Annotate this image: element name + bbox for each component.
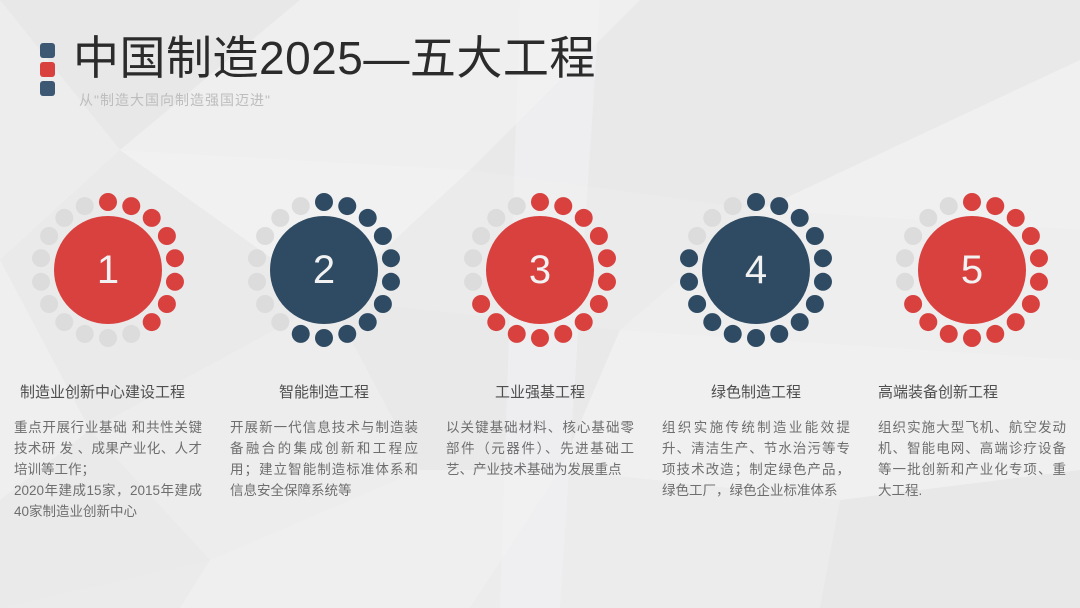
ring-dot-empty	[464, 249, 482, 267]
step-number: 5	[961, 250, 983, 290]
ring-dot-filled	[382, 249, 400, 267]
step-circle-core: 3	[486, 216, 594, 324]
step-circle-wrap: 1	[28, 190, 188, 350]
ring-dot-filled	[770, 197, 788, 215]
ring-dot-filled	[590, 295, 608, 313]
ring-dot-empty	[55, 209, 73, 227]
step-heading: 绿色制造工程	[662, 383, 850, 403]
ring-dot-filled	[143, 209, 161, 227]
ring-dot-filled	[472, 295, 490, 313]
step-circles-row: 12345	[0, 190, 1080, 370]
ring-dot-filled	[598, 249, 616, 267]
ring-dot-empty	[32, 273, 50, 291]
ring-dot-empty	[724, 197, 742, 215]
step-circle-2: 2	[216, 190, 432, 370]
ring-dot-empty	[703, 209, 721, 227]
step-circle-core: 2	[270, 216, 378, 324]
ring-dot-filled	[122, 197, 140, 215]
ring-dot-empty	[256, 295, 274, 313]
ring-dot-empty	[271, 313, 289, 331]
step-circle-core: 4	[702, 216, 810, 324]
ring-dot-filled	[166, 249, 184, 267]
step-body-paragraph: 2020年建成15家，2015年建成40家制造业创新中心	[14, 480, 202, 522]
ring-dot-empty	[256, 227, 274, 245]
bullet-square-red-middle	[40, 62, 55, 77]
ring-dot-filled	[1007, 209, 1025, 227]
ring-dot-empty	[896, 273, 914, 291]
header-bullet-marks	[40, 43, 55, 96]
step-circle-3: 3	[432, 190, 648, 370]
ring-dot-filled	[1022, 227, 1040, 245]
bullet-square-navy-top	[40, 43, 55, 58]
ring-dot-filled	[598, 273, 616, 291]
ring-dot-filled	[158, 227, 176, 245]
ring-dot-filled	[382, 273, 400, 291]
ring-dot-filled	[940, 325, 958, 343]
ring-dot-filled	[158, 295, 176, 313]
step-column-3: 工业强基工程以关键基础材料、核心基础零部件（元器件）、先进基础工艺、产业技术基础…	[432, 383, 648, 583]
ring-dot-filled	[575, 313, 593, 331]
step-body-paragraph: 组织实施大型飞机、航空发动机、智能电网、高端诊疗设备等一批创新和产业化专项、重大…	[878, 417, 1066, 501]
step-body-text: 开展新一代信息技术与制造装备融合的集成创新和工程应用；建立智能制造标准体系和信息…	[230, 417, 418, 501]
ring-dot-filled	[919, 313, 937, 331]
ring-dot-filled	[747, 193, 765, 211]
step-body-paragraph: 组织实施传统制造业能效提升、清洁生产、节水治污等专项技术改造；制定绿色产品，绿色…	[662, 417, 850, 501]
ring-dot-filled	[590, 227, 608, 245]
step-circle-wrap: 5	[892, 190, 1052, 350]
ring-dot-filled	[575, 209, 593, 227]
ring-dot-empty	[248, 249, 266, 267]
ring-dot-filled	[508, 325, 526, 343]
ring-dot-filled	[292, 325, 310, 343]
ring-dot-empty	[55, 313, 73, 331]
ring-dot-empty	[688, 227, 706, 245]
ring-dot-filled	[1030, 273, 1048, 291]
step-circle-1: 1	[0, 190, 216, 370]
ring-dot-empty	[271, 209, 289, 227]
step-number: 4	[745, 250, 767, 290]
step-body-paragraph: 重点开展行业基础 和共性关键技术研 发 、成果产业化、人才培训等工作；	[14, 417, 202, 480]
page-subtitle: 从"制造大国向制造强国迈进"	[79, 90, 596, 110]
step-circle-4: 4	[648, 190, 864, 370]
ring-dot-filled	[806, 227, 824, 245]
step-circle-wrap: 4	[676, 190, 836, 350]
ring-dot-empty	[32, 249, 50, 267]
ring-dot-empty	[508, 197, 526, 215]
step-circle-wrap: 2	[244, 190, 404, 350]
ring-dot-filled	[531, 329, 549, 347]
page-header: 中国制造2025—五大工程 从"制造大国向制造强国迈进"	[40, 32, 596, 110]
step-number: 3	[529, 250, 551, 290]
ring-dot-filled	[814, 249, 832, 267]
ring-dot-filled	[1022, 295, 1040, 313]
step-body-text: 组织实施传统制造业能效提升、清洁生产、节水治污等专项技术改造；制定绿色产品，绿色…	[662, 417, 850, 501]
step-body-text: 重点开展行业基础 和共性关键技术研 发 、成果产业化、人才培训等工作；2020年…	[14, 417, 202, 522]
ring-dot-empty	[40, 227, 58, 245]
step-body-paragraph: 开展新一代信息技术与制造装备融合的集成创新和工程应用；建立智能制造标准体系和信息…	[230, 417, 418, 501]
ring-dot-filled	[747, 329, 765, 347]
step-body-text: 以关键基础材料、核心基础零部件（元器件）、先进基础工艺、产业技术基础为发展重点	[446, 417, 634, 480]
ring-dot-filled	[374, 295, 392, 313]
step-column-5: 高端装备创新工程组织实施大型飞机、航空发动机、智能电网、高端诊疗设备等一批创新和…	[864, 383, 1080, 583]
step-body-paragraph: 以关键基础材料、核心基础零部件（元器件）、先进基础工艺、产业技术基础为发展重点	[446, 417, 634, 480]
step-circle-core: 1	[54, 216, 162, 324]
ring-dot-empty	[940, 197, 958, 215]
ring-dot-filled	[143, 313, 161, 331]
ring-dot-empty	[487, 209, 505, 227]
step-circle-core: 5	[918, 216, 1026, 324]
page-title: 中国制造2025—五大工程	[73, 32, 596, 84]
ring-dot-empty	[464, 273, 482, 291]
ring-dot-filled	[338, 197, 356, 215]
ring-dot-empty	[472, 227, 490, 245]
ring-dot-filled	[359, 313, 377, 331]
ring-dot-filled	[806, 295, 824, 313]
ring-dot-filled	[791, 313, 809, 331]
ring-dot-filled	[703, 313, 721, 331]
ring-dot-filled	[338, 325, 356, 343]
ring-dot-filled	[315, 329, 333, 347]
step-text-columns: 制造业创新中心建设工程重点开展行业基础 和共性关键技术研 发 、成果产业化、人才…	[0, 383, 1080, 583]
step-heading: 工业强基工程	[446, 383, 634, 403]
ring-dot-filled	[359, 209, 377, 227]
step-heading: 智能制造工程	[230, 383, 418, 403]
step-heading: 高端装备创新工程	[878, 383, 1066, 403]
ring-dot-empty	[248, 273, 266, 291]
ring-dot-empty	[919, 209, 937, 227]
ring-dot-filled	[554, 197, 572, 215]
bullet-square-navy-bottom	[40, 81, 55, 96]
ring-dot-empty	[292, 197, 310, 215]
ring-dot-filled	[1007, 313, 1025, 331]
ring-dot-filled	[904, 295, 922, 313]
step-body-text: 组织实施大型飞机、航空发动机、智能电网、高端诊疗设备等一批创新和产业化专项、重大…	[878, 417, 1066, 501]
step-heading: 制造业创新中心建设工程	[14, 383, 202, 403]
step-number: 1	[97, 250, 119, 290]
ring-dot-filled	[770, 325, 788, 343]
ring-dot-filled	[688, 295, 706, 313]
ring-dot-filled	[814, 273, 832, 291]
ring-dot-filled	[724, 325, 742, 343]
ring-dot-filled	[680, 273, 698, 291]
step-column-4: 绿色制造工程组织实施传统制造业能效提升、清洁生产、节水治污等专项技术改造；制定绿…	[648, 383, 864, 583]
ring-dot-filled	[986, 197, 1004, 215]
ring-dot-filled	[963, 193, 981, 211]
ring-dot-filled	[99, 193, 117, 211]
step-number: 2	[313, 250, 335, 290]
ring-dot-filled	[791, 209, 809, 227]
ring-dot-filled	[963, 329, 981, 347]
ring-dot-filled	[315, 193, 333, 211]
ring-dot-filled	[554, 325, 572, 343]
step-column-2: 智能制造工程开展新一代信息技术与制造装备融合的集成创新和工程应用；建立智能制造标…	[216, 383, 432, 583]
ring-dot-empty	[122, 325, 140, 343]
step-column-1: 制造业创新中心建设工程重点开展行业基础 和共性关键技术研 发 、成果产业化、人才…	[0, 383, 216, 583]
ring-dot-empty	[896, 249, 914, 267]
ring-dot-empty	[40, 295, 58, 313]
step-circle-5: 5	[864, 190, 1080, 370]
step-circle-wrap: 3	[460, 190, 620, 350]
ring-dot-filled	[531, 193, 549, 211]
ring-dot-filled	[166, 273, 184, 291]
ring-dot-filled	[487, 313, 505, 331]
ring-dot-filled	[986, 325, 1004, 343]
ring-dot-filled	[680, 249, 698, 267]
ring-dot-empty	[904, 227, 922, 245]
ring-dot-filled	[1030, 249, 1048, 267]
ring-dot-filled	[374, 227, 392, 245]
ring-dot-empty	[76, 197, 94, 215]
ring-dot-empty	[99, 329, 117, 347]
ring-dot-empty	[76, 325, 94, 343]
